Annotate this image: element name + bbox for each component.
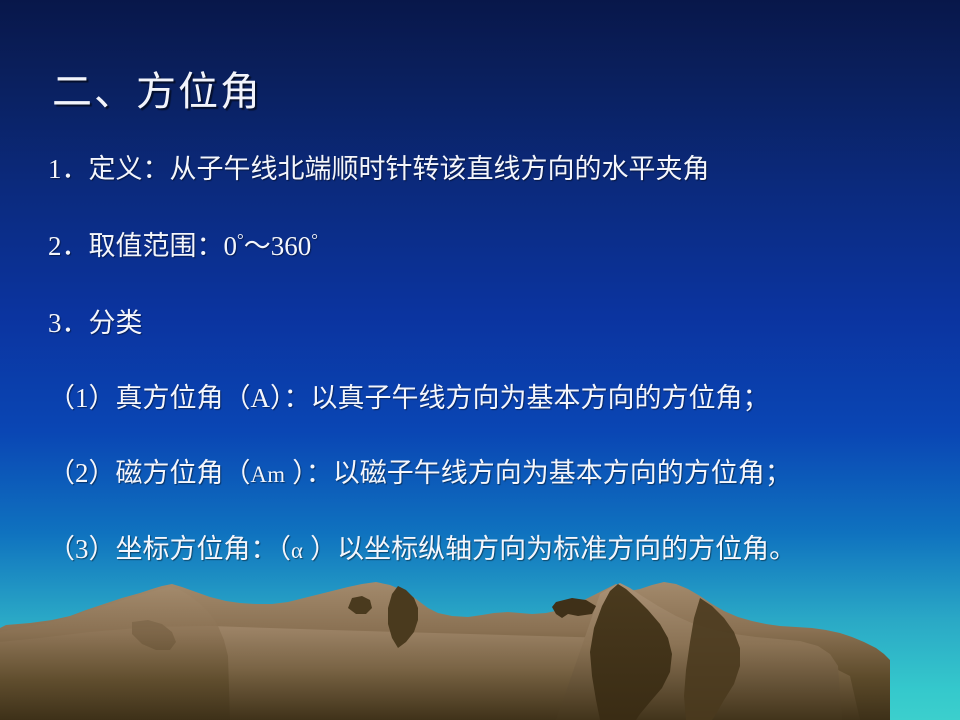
hill-far-left xyxy=(0,587,230,720)
bullet-grid-azimuth: （3）坐标方位角：（α ）以坐标纵轴方向为标准方向的方位角。 xyxy=(48,532,796,568)
bullet-range-max: 360 xyxy=(271,231,312,261)
degree-sign-max: ° xyxy=(311,230,318,249)
bullet-classification: 3．分类 xyxy=(48,306,143,340)
bullet-magnetic-azimuth: （2）磁方位角（Am ）：以磁子午线方向为基本方向的方位角； xyxy=(48,456,792,492)
grid-azimuth-prefix: （3）坐标方位角：（ xyxy=(48,534,291,564)
magnetic-azimuth-suffix: ）：以磁子午线方向为基本方向的方位角； xyxy=(286,458,792,488)
slide-text-content: 二、方位角 1．定义：从子午线北端顺时针转该直线方向的水平夹角 2．取值范围：0… xyxy=(0,0,960,600)
bullet-definition: 1．定义：从子午线北端顺时针转该直线方向的水平夹角 xyxy=(48,152,710,186)
bullet-range-min: 0 xyxy=(224,231,238,261)
shadow-face-left-slope xyxy=(684,598,740,720)
range-tilde: ～ xyxy=(244,231,271,261)
bullet-range-prefix: 2．取值范围： xyxy=(48,231,224,261)
presentation-slide: 二、方位角 1．定义：从子午线北端顺时针转该直线方向的水平夹角 2．取值范围：0… xyxy=(0,0,960,720)
bullet-range: 2．取值范围：0°～360° xyxy=(48,229,318,263)
page-title: 二、方位角 xyxy=(52,68,262,116)
peak-right xyxy=(556,583,842,720)
shadow-valley-left xyxy=(132,620,176,650)
ridge-main xyxy=(0,582,890,720)
shadow-notch-upper xyxy=(552,598,596,618)
magnetic-azimuth-prefix: （2）磁方位角（ xyxy=(48,458,251,488)
magnetic-azimuth-symbol: Am xyxy=(251,462,286,487)
shadow-face-right-peak xyxy=(590,584,672,720)
mountain-range-illustration xyxy=(0,580,960,720)
grid-azimuth-symbol: α xyxy=(291,538,303,563)
grid-azimuth-suffix: ）以坐标纵轴方向为标准方向的方位角。 xyxy=(303,534,796,564)
ridge-foreground xyxy=(0,626,860,720)
degree-sign-min: ° xyxy=(237,230,244,249)
bullet-true-azimuth: （1）真方位角（A）：以真子午线方向为基本方向的方位角； xyxy=(48,381,770,415)
